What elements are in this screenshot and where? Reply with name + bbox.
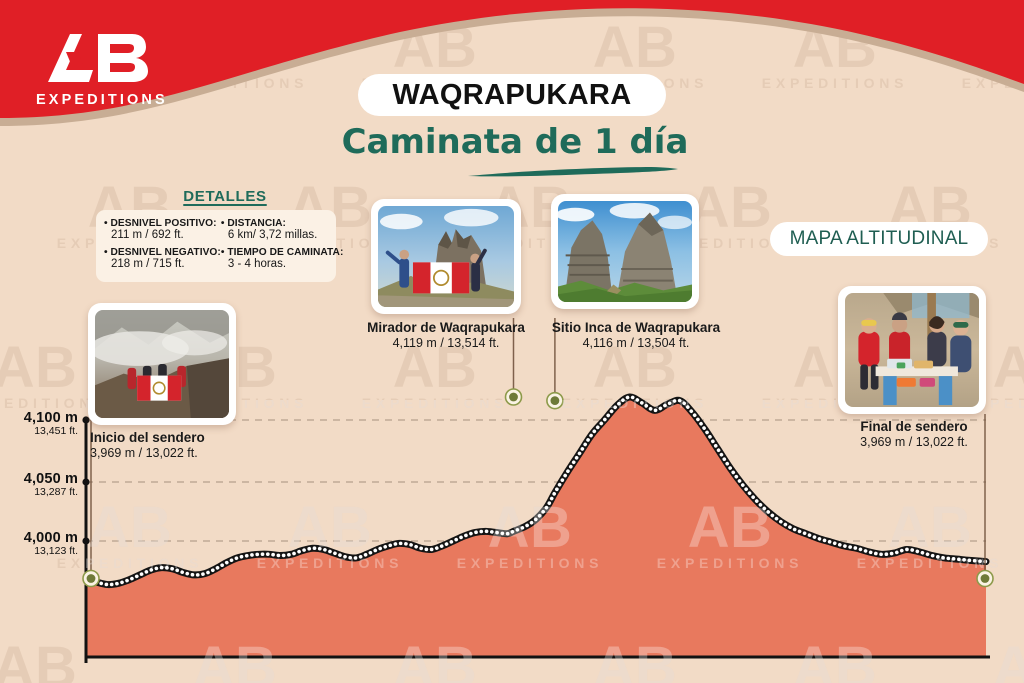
photo-card-final[interactable] <box>838 286 986 414</box>
photo-final <box>845 293 979 407</box>
caption-inicio: Inicio del sendero 3,969 m / 13,022 ft. <box>90 430 205 462</box>
photo-card-mirador[interactable] <box>371 199 521 314</box>
caption-mirador: Mirador de Waqrapukara 4,119 m / 13,514 … <box>356 320 536 352</box>
caption-sitio: Sitio Inca de Waqrapukara 4,116 m / 13,5… <box>546 320 726 352</box>
y-tick-label-4050: 4,050 m 13,287 ft. <box>2 471 78 498</box>
infographic-canvas: ABEXPEDITIONSABEXPEDITIONSABEXPEDITIONSA… <box>0 0 1024 683</box>
photo-card-sitio[interactable] <box>551 194 699 309</box>
photo-inicio <box>95 310 229 418</box>
photo-sitio <box>558 201 692 302</box>
photo-mirador <box>378 206 514 307</box>
y-tick-label-4000: 4,000 m 13,123 ft. <box>2 530 78 557</box>
y-tick-label-4100: 4,100 m 13,451 ft. <box>2 410 78 437</box>
photo-card-inicio[interactable] <box>88 303 236 425</box>
caption-final: Final de sendero 3,969 m / 13,022 ft. <box>830 419 998 451</box>
